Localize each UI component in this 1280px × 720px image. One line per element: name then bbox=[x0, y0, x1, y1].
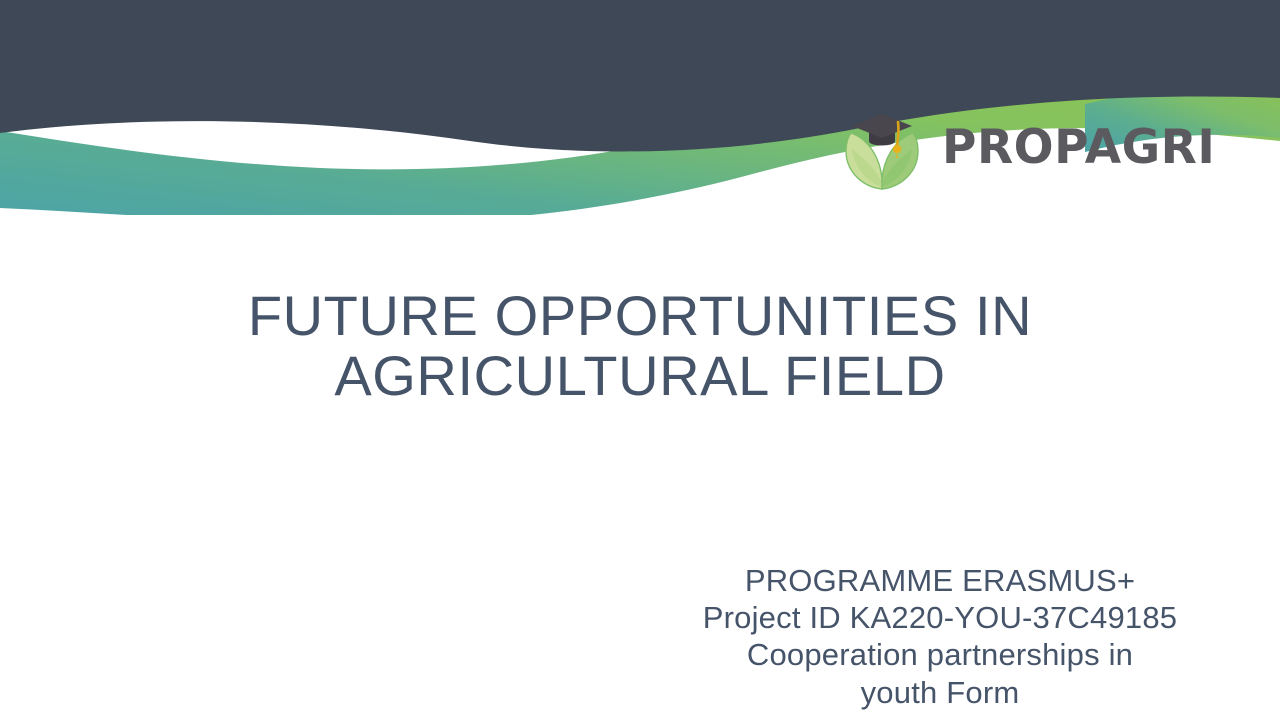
presentation-slide: PROPAGRI FUTURE OPPORTUNITIES IN AGRICUL… bbox=[0, 0, 1280, 720]
propagri-wordmark: PROPAGRI bbox=[942, 124, 1215, 171]
cap-tassel-knob bbox=[893, 145, 901, 153]
propagri-logo-mark-icon bbox=[836, 101, 928, 193]
leaves-graduation-cap-icon bbox=[836, 101, 928, 193]
cap-tassel-cord bbox=[897, 122, 898, 145]
subtitle-block: PROGRAMME ERASMUS+ Project ID KA220-YOU-… bbox=[640, 562, 1240, 711]
slide-subtitle: PROGRAMME ERASMUS+ Project ID KA220-YOU-… bbox=[640, 562, 1240, 711]
slide-title: FUTURE OPPORTUNITIES IN AGRICULTURAL FIE… bbox=[160, 286, 1120, 406]
propagri-logo: PROPAGRI bbox=[836, 101, 1215, 193]
title-block: FUTURE OPPORTUNITIES IN AGRICULTURAL FIE… bbox=[160, 286, 1120, 406]
cap-mortarboard bbox=[852, 114, 912, 138]
